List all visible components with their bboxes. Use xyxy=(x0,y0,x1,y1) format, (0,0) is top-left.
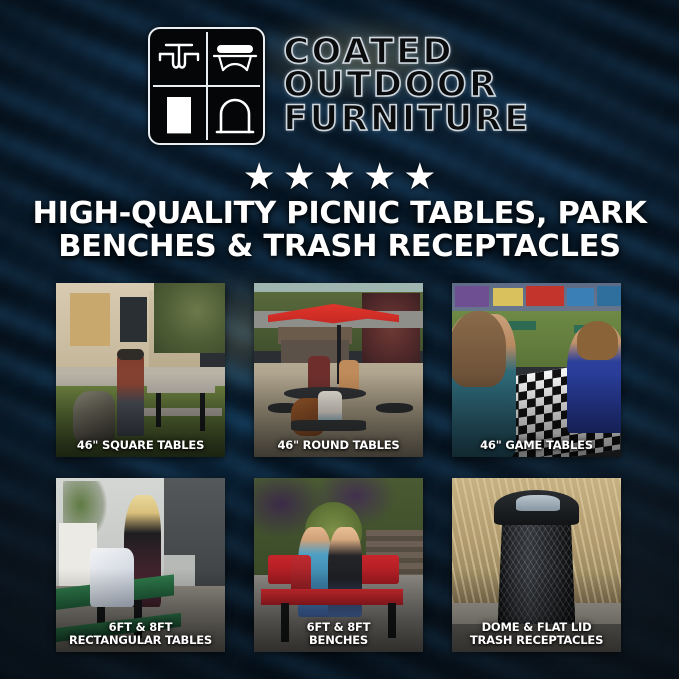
picnic-table-icon xyxy=(150,29,207,86)
product-grid-row-1: 46" SQUARE TABLES xyxy=(56,283,622,457)
banner-content: COATED OUTDOOR FURNITURE ★ ★ ★ ★ ★ HIGH-… xyxy=(0,0,679,679)
product-caption: DOME & FLAT LID TRASH RECEPTACLES xyxy=(454,621,619,647)
four-product-grid-logo xyxy=(148,27,265,145)
bench-icon xyxy=(207,29,264,86)
caption-line: TRASH RECEPTACLES xyxy=(454,634,619,647)
product-caption: 46" SQUARE TABLES xyxy=(58,439,223,452)
caption-line: 46" ROUND TABLES xyxy=(256,439,421,452)
star-icon-3: ★ xyxy=(323,158,356,195)
product-grid: 46" SQUARE TABLES xyxy=(56,283,622,652)
product-tile-square-tables[interactable]: 46" SQUARE TABLES xyxy=(56,283,225,457)
product-caption: 46" ROUND TABLES xyxy=(256,439,421,452)
brand-line-3: FURNITURE xyxy=(283,103,530,137)
bike-rack-icon xyxy=(207,86,264,143)
caption-line: RECTANGULAR TABLES xyxy=(58,634,223,647)
product-tile-rectangular-tables[interactable]: 6FT & 8FT RECTANGULAR TABLES xyxy=(56,478,225,652)
caption-line: 46" SQUARE TABLES xyxy=(58,439,223,452)
product-tile-trash-receptacles[interactable]: DOME & FLAT LID TRASH RECEPTACLES xyxy=(452,478,621,652)
brand-line-2: OUTDOOR xyxy=(283,69,498,103)
trash-receptacle-icon xyxy=(150,86,207,143)
caption-line: BENCHES xyxy=(256,634,421,647)
headline-line-2: BENCHES & TRASH RECEPTACLES xyxy=(30,231,649,264)
brand-wordmark: COATED OUTDOOR FURNITURE xyxy=(283,36,530,137)
star-icon-5: ★ xyxy=(403,158,436,195)
product-photo-game-tables xyxy=(452,283,621,457)
product-caption: 46" GAME TABLES xyxy=(454,439,619,452)
product-caption: 6FT & 8FT BENCHES xyxy=(256,621,421,647)
star-icon-2: ★ xyxy=(283,158,316,195)
headline: HIGH-QUALITY PICNIC TABLES, PARK BENCHES… xyxy=(30,198,649,264)
headline-line-1: HIGH-QUALITY PICNIC TABLES, PARK xyxy=(32,196,646,231)
product-tile-benches[interactable]: 6FT & 8FT BENCHES xyxy=(254,478,423,652)
star-rating: ★ ★ ★ ★ ★ xyxy=(0,158,679,194)
caption-line: 46" GAME TABLES xyxy=(454,439,619,452)
product-tile-game-tables[interactable]: 46" GAME TABLES xyxy=(452,283,621,457)
brand-logo: COATED OUTDOOR FURNITURE xyxy=(0,26,679,146)
product-grid-row-2: 6FT & 8FT RECTANGULAR TABLES 6FT & xyxy=(56,478,622,652)
star-icon-1: ★ xyxy=(243,158,276,195)
product-banner: COATED OUTDOOR FURNITURE ★ ★ ★ ★ ★ HIGH-… xyxy=(0,0,679,679)
product-photo-square-tables xyxy=(56,283,225,457)
product-tile-round-tables[interactable]: 46" ROUND TABLES xyxy=(254,283,423,457)
product-photo-round-tables xyxy=(254,283,423,457)
product-caption: 6FT & 8FT RECTANGULAR TABLES xyxy=(58,621,223,647)
star-icon-4: ★ xyxy=(363,158,396,195)
